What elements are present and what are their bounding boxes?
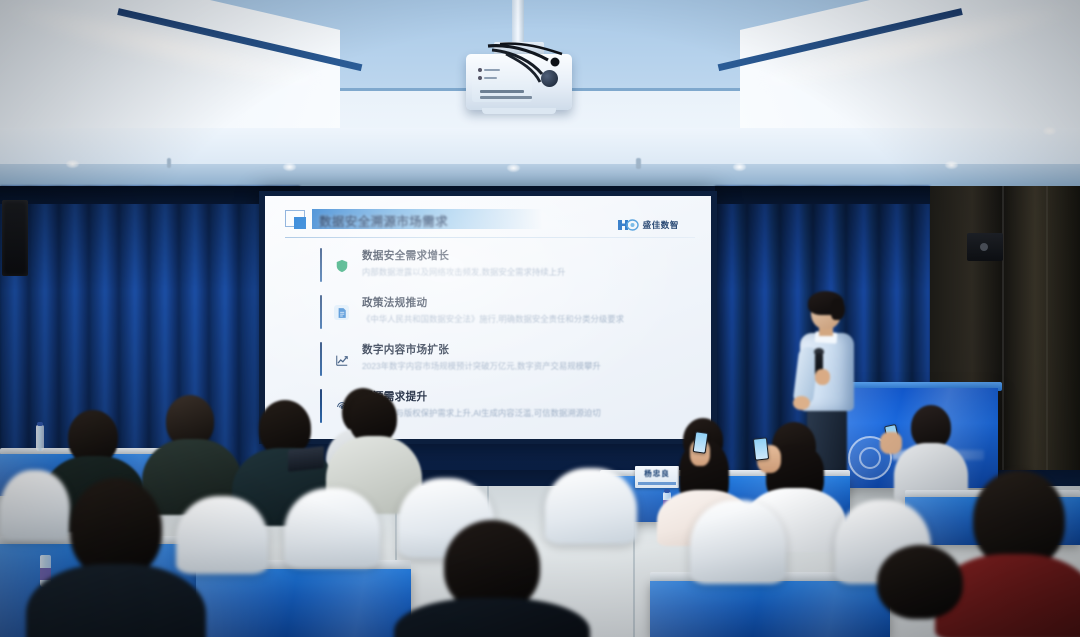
slide-title: 数据安全溯源市场需求 — [319, 211, 448, 230]
audience-head — [70, 478, 162, 578]
table-highlight — [196, 569, 411, 637]
phone-screen — [694, 432, 708, 452]
slide-bullet-item: 数据安全需求增长 内部数据泄露以及网络攻击频发,数据安全需求持续上升 — [320, 248, 689, 282]
audience-shoulders — [26, 564, 206, 637]
audience-member-front — [40, 478, 190, 637]
wood-panel-seam — [1046, 186, 1048, 486]
chair — [284, 488, 380, 568]
downlight-icon — [283, 163, 296, 171]
downlight-icon — [733, 163, 746, 171]
ceiling-sprinkler-icon — [167, 158, 171, 168]
audience-shoulders — [394, 598, 590, 637]
document-icon — [334, 305, 349, 320]
slide-bullet-item: 政策法规推动 《中华人民共和国数据安全法》施行,明确数据安全责任和分类分级要求 — [320, 295, 689, 329]
slide-header-rule — [285, 237, 695, 238]
downlight-icon — [66, 160, 79, 168]
table-highlight — [650, 581, 890, 637]
presenter-hand-holding-mic — [815, 369, 830, 385]
table-front-center — [196, 569, 411, 637]
shield-icon — [334, 258, 349, 273]
bullet-rail — [320, 248, 322, 282]
wall-speaker-right — [967, 233, 1003, 261]
projector-base — [482, 108, 556, 114]
chair — [690, 500, 786, 584]
laptop[interactable] — [288, 446, 324, 472]
trend-chart-icon — [334, 352, 349, 367]
bullet-rail — [320, 342, 322, 376]
projector-mount-rod — [512, 0, 524, 44]
audience-member-front — [855, 545, 985, 637]
lens-logo-icon — [617, 218, 639, 232]
presenter-hair-side — [831, 298, 845, 320]
downlight-icon — [1043, 127, 1056, 135]
bullet-heading: 政策法规推动 — [362, 295, 689, 310]
downlight-icon — [507, 164, 520, 172]
slide-header: 数据安全溯源市场需求 盛佳数智 — [285, 209, 695, 235]
conference-room-photo: 数据安全溯源市场需求 盛佳数智 数据安全需求增长 内部数据泄露以及网络攻击频发,… — [0, 0, 1080, 637]
brand-logo: 盛佳数智 — [617, 218, 679, 232]
bullet-body: 2023年数字内容市场规模预计突破万亿元,数字资产交易规模攀升 — [362, 360, 682, 372]
slide-bullet-item: 数字内容市场扩张 2023年数字内容市场规模预计突破万亿元,数字资产交易规模攀升 — [320, 342, 689, 376]
table-front-right — [650, 581, 890, 637]
brand-name: 盛佳数智 — [643, 219, 679, 231]
ceiling-sprinkler-icon — [636, 158, 641, 169]
smartphone[interactable] — [753, 437, 769, 460]
audience-hand-raised — [880, 432, 902, 454]
bottle-cap-icon — [37, 422, 43, 426]
projector-cables — [470, 40, 580, 92]
bullet-heading: 数据安全需求增长 — [362, 248, 689, 263]
water-bottle — [36, 425, 44, 451]
downlight-icon — [945, 161, 958, 169]
bullet-body: 内部数据泄露以及网络攻击频发,数据安全需求持续上升 — [362, 266, 682, 278]
wall-speaker-left — [2, 200, 28, 276]
projector-port-row — [480, 96, 532, 99]
phone-screen — [754, 438, 768, 459]
wood-panel-seam — [1002, 186, 1004, 486]
title-square-filled-icon — [294, 217, 306, 229]
bullet-heading: 数字内容市场扩张 — [362, 342, 689, 357]
ceiling-band — [0, 128, 1080, 164]
audience-member-front — [410, 520, 575, 637]
bullet-rail — [320, 295, 322, 329]
audience-head — [877, 545, 963, 619]
presenter-hand — [793, 396, 810, 410]
bullet-body: 《中华人民共和国数据安全法》施行,明确数据安全责任和分类分级要求 — [362, 313, 682, 325]
ceiling-shadow — [0, 164, 1080, 186]
